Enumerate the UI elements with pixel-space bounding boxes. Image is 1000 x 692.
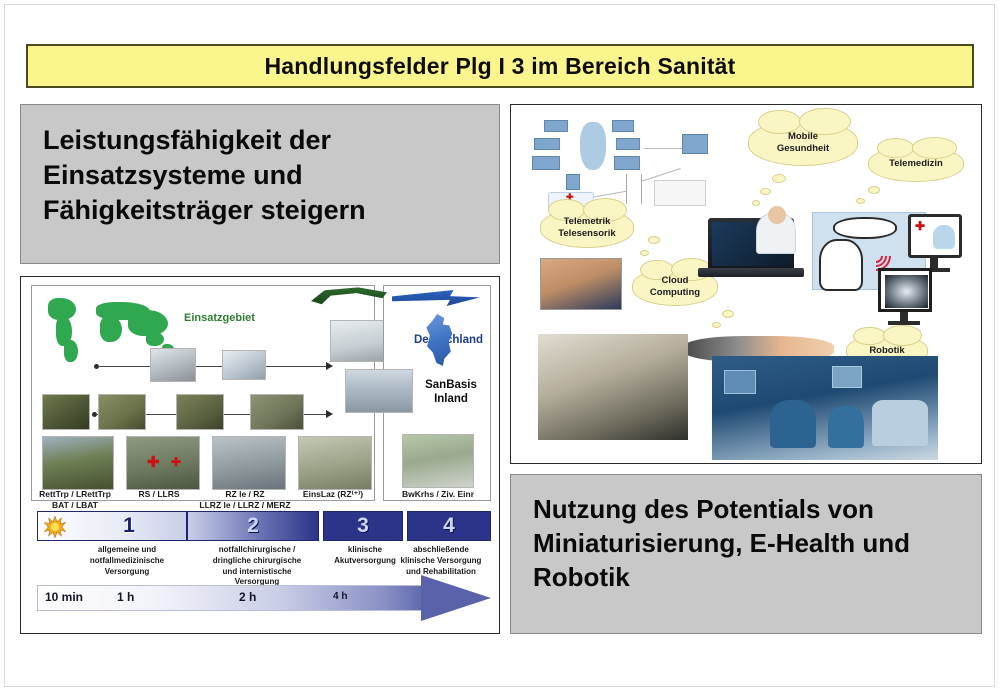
- laptop-base: [698, 268, 804, 277]
- phase-segment-2: 2: [187, 511, 319, 541]
- caption-einslaz-line-1: EinsLaz (RZ⁽⁺⁾): [293, 489, 373, 500]
- caption-rs-llrs: RS / LLRS: [121, 489, 197, 500]
- caption-rs-llrs-line-1: RS / LLRS: [121, 489, 197, 500]
- photo-armored-transport: [98, 394, 146, 430]
- photo-field-hospital-tent: ✚ ✚: [126, 436, 200, 490]
- phase-2-desc-line-3: und internistische: [193, 567, 321, 578]
- phase-1-desc-line-2: notfallmedizinische: [61, 556, 193, 567]
- time-arrow-head-icon: [421, 575, 491, 621]
- photo-rescue-center: [212, 436, 286, 490]
- phase-number-2: 2: [247, 514, 259, 538]
- cloud-mobile-gesundheit: Mobile Gesundheit: [748, 120, 858, 166]
- caption-rettrp-line-2: BAT / LBAT: [33, 500, 117, 511]
- statement-right-line-3: Robotik: [533, 561, 959, 595]
- patient-monitor: ✚: [908, 214, 962, 258]
- treatment-phase-band: 1 2 3 4: [37, 511, 491, 541]
- cloud-telemedizin-label: Telemedizin: [885, 158, 947, 170]
- phase-4-desc-line-1: abschließende: [393, 545, 489, 556]
- surgeon-figure: [819, 239, 863, 291]
- phase-segment-1: 1: [37, 511, 187, 541]
- caption-rz: RZ le / RZ LLRZ le / LLRZ / MERZ: [199, 489, 291, 511]
- label-sanbasis-inland: SanBasis Inland: [414, 378, 488, 407]
- photo-helicopter: [150, 348, 196, 382]
- slide-title-banner: Handlungsfelder Plg I 3 im Bereich Sanit…: [26, 44, 974, 88]
- phase-number-1: 1: [123, 514, 135, 538]
- statement-right-line-2: Miniaturisierung, E-Health und: [533, 527, 959, 561]
- page-title: Handlungsfelder Plg I 3 im Bereich Sanit…: [264, 53, 735, 80]
- phase-2-desc-line-1: notfallchirurgische /: [193, 545, 321, 556]
- slide-canvas: Handlungsfelder Plg I 3 im Bereich Sanit…: [0, 0, 1000, 692]
- photo-medevac-jet: [345, 369, 413, 413]
- photo-rescue-exoskeleton-robot: [538, 334, 688, 440]
- phase-1-desc-line-3: Versorgung: [61, 567, 193, 578]
- caption-rz-line-2: LLRZ le / LLRZ / MERZ: [199, 500, 291, 511]
- phase-description-1: allgemeine und notfallmedizinische Verso…: [61, 545, 193, 577]
- rescue-chain-deployment-area: Einsatzgebiet ✚: [31, 285, 375, 501]
- time-axis-bar: [37, 585, 429, 611]
- phase-description-4: abschließende klinische Versorgung und R…: [393, 545, 489, 577]
- time-tick-10min: 10 min: [45, 590, 83, 604]
- label-einsatzgebiet: Einsatzgebiet: [184, 312, 255, 324]
- photo-transport-aircraft: [330, 320, 386, 362]
- phase-number-3: 3: [357, 514, 369, 538]
- photo-microneedle-skin: [540, 258, 622, 310]
- caption-bwkrhs: BwKrhs / Ziv. Einr: [391, 489, 485, 500]
- phase-2-desc-line-2: dringliche chirurgische: [193, 556, 321, 567]
- phase-1-desc-line-1: allgemeine und: [61, 545, 193, 556]
- photo-rettungstrupp-vehicle: [42, 436, 114, 490]
- time-tick-1h: 1 h: [117, 590, 134, 604]
- photo-einsatzlazarett: [298, 436, 372, 490]
- cloud-telemetrik-line-2: Telesensorik: [558, 228, 615, 239]
- return-arrow-icon: [392, 290, 480, 306]
- cloud-robotik-label: Robotik: [865, 345, 908, 357]
- cloud-mobile-gesundheit-line-1: Mobile: [788, 131, 818, 142]
- phase-number-4: 4: [443, 514, 455, 538]
- label-sanbasis-line-2: Inland: [414, 392, 488, 406]
- time-axis-arrow: 10 min 1 h 2 h 4 h: [37, 579, 491, 621]
- photo-bundeswehr-hospital: [402, 434, 474, 488]
- ehealth-collage: ✚ Mobile Gesundheit Telemedizin Telemetr…: [510, 104, 982, 464]
- time-tick-4h: 4 h: [333, 591, 347, 602]
- statement-left-line-2: Einsatzsysteme und: [43, 158, 477, 193]
- phase-4-desc-line-2: klinische Versorgung: [393, 556, 489, 567]
- statement-left-line-1: Leistungsfähigkeit der: [43, 123, 477, 158]
- cloud-mobile-gesundheit-line-2: Gesundheit: [777, 143, 829, 154]
- xray-monitor: [878, 268, 932, 312]
- doctor-head: [768, 206, 786, 224]
- caption-rettrp-line-1: RettTrp / LRettTrp: [33, 489, 117, 500]
- cloud-computing-line-2: Computing: [650, 287, 700, 298]
- photo-armored-ambulance: [176, 394, 224, 430]
- photo-snow-rescue: [222, 350, 266, 380]
- cloud-telemetrik-line-1: Telemetrik: [564, 216, 611, 227]
- statement-left-line-3: Fähigkeitsträger steigern: [43, 193, 477, 228]
- phase-segment-3: 3: [323, 511, 403, 541]
- statement-panel-right: Nutzung des Potentials von Miniaturisier…: [510, 474, 982, 634]
- sunburst-icon: [44, 516, 66, 538]
- caption-rz-line-1: RZ le / RZ: [199, 489, 291, 500]
- cloud-telemedizin: Telemedizin: [868, 146, 964, 182]
- cloud-telemetrik-telesensorik: Telemetrik Telesensorik: [540, 208, 634, 248]
- phase-segment-4: 4: [407, 511, 491, 541]
- photo-casualty-ground: [42, 394, 90, 430]
- statement-panel-left: Leistungsfähigkeit der Einsatzsysteme un…: [20, 104, 500, 264]
- surgical-lamp-icon: [833, 217, 897, 239]
- time-tick-2h: 2 h: [239, 590, 256, 604]
- caption-rettrp: RettTrp / LRettTrp BAT / LBAT: [33, 489, 117, 511]
- rescue-chain-diagram: Einsatzgebiet ✚: [20, 276, 500, 634]
- label-sanbasis-line-1: SanBasis: [414, 378, 488, 392]
- caption-einslaz: EinsLaz (RZ⁽⁺⁾): [293, 489, 373, 500]
- photo-medical-truck: [250, 394, 304, 430]
- caption-bwkrhs-line-1: BwKrhs / Ziv. Einr: [391, 489, 485, 500]
- photo-robotic-operating-room: [712, 356, 938, 460]
- statement-right-line-1: Nutzung des Potentials von: [533, 493, 959, 527]
- cloud-computing-line-1: Cloud: [662, 275, 689, 286]
